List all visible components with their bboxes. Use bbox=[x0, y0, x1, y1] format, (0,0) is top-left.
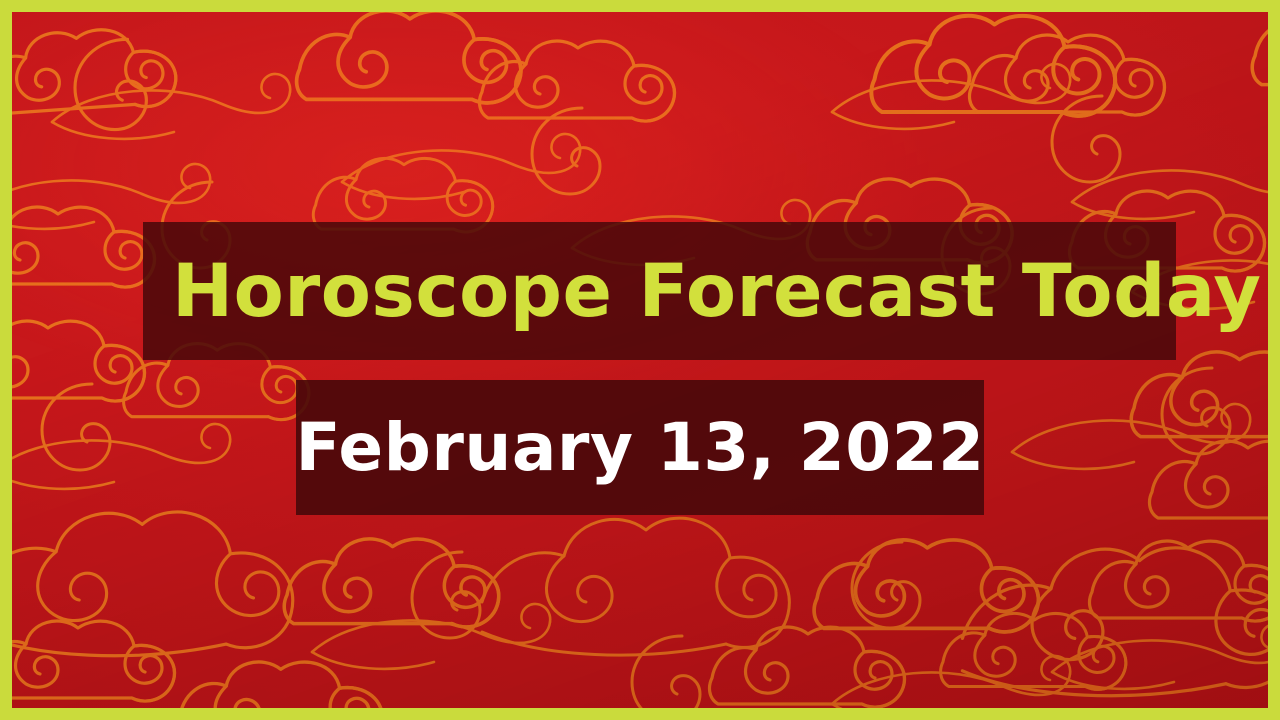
poster-canvas: Horoscope Forecast Today February 13, 20… bbox=[12, 12, 1268, 708]
page-title: Horoscope Forecast Today bbox=[172, 255, 1261, 328]
forecast-date: February 13, 2022 bbox=[295, 415, 984, 481]
date-banner: February 13, 2022 bbox=[296, 380, 984, 515]
horoscope-forecast-poster: Horoscope Forecast Today February 13, 20… bbox=[0, 0, 1280, 720]
cloud-pattern-svg bbox=[12, 12, 1268, 708]
chinese-cloud-pattern bbox=[12, 12, 1268, 708]
title-banner: Horoscope Forecast Today bbox=[143, 222, 1176, 360]
